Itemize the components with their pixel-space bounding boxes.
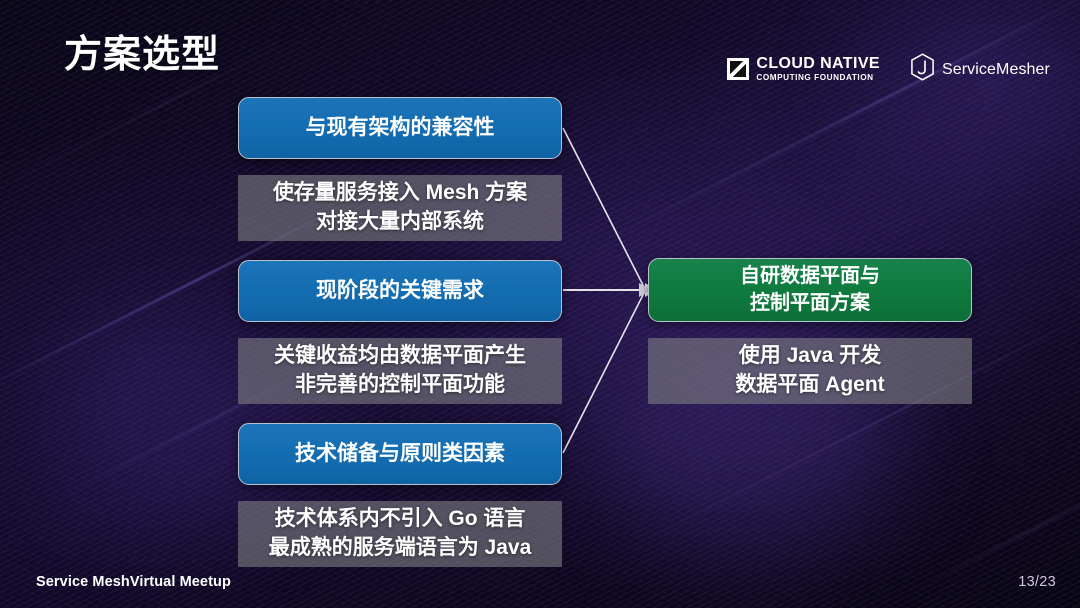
footer-brand: Service MeshVirtual Meetup: [36, 574, 231, 590]
criterion-detail-1: 使存量服务接入 Mesh 方案 对接大量内部系统: [238, 179, 562, 236]
criterion-detail-1-line1: 使存量服务接入 Mesh 方案: [273, 181, 527, 204]
criterion-box-2[interactable]: 现阶段的关键需求: [238, 260, 562, 322]
conclusion-label: 自研数据平面与 控制平面方案: [649, 263, 971, 317]
slide-canvas: 方案选型 CLOUD NATIVE COMPUTING FOUNDATION S…: [0, 0, 1080, 608]
criterion-detail-box-2: 关键收益均由数据平面产生 非完善的控制平面功能: [238, 338, 562, 404]
conclusion-box[interactable]: 自研数据平面与 控制平面方案: [648, 258, 972, 322]
conclusion-line2: 控制平面方案: [750, 292, 870, 314]
page-number: 13/23: [1018, 574, 1056, 590]
logo-group: CLOUD NATIVE COMPUTING FOUNDATION Servic…: [727, 53, 1050, 86]
conclusion-detail-line2: 数据平面 Agent: [735, 373, 884, 396]
servicemesher-hexagon-icon: [910, 53, 935, 86]
criterion-detail-3-line2: 最成熟的服务端语言为 Java: [269, 536, 532, 559]
criterion-detail-2-line1: 关键收益均由数据平面产生: [274, 344, 526, 367]
criterion-detail-3-line1: 技术体系内不引入 Go 语言: [275, 507, 526, 530]
cncf-logo-line1: CLOUD NATIVE: [756, 56, 880, 72]
background-ribbon-3: [590, 0, 1080, 250]
cncf-logo-line2: COMPUTING FOUNDATION: [756, 74, 880, 82]
criterion-box-3[interactable]: 技术储备与原则类因素: [238, 423, 562, 485]
cncf-mark-icon: [727, 58, 749, 80]
servicemesher-wordmark: ServiceMesher: [942, 61, 1050, 79]
criterion-detail-3: 技术体系内不引入 Go 语言 最成熟的服务端语言为 Java: [238, 505, 562, 562]
criterion-detail-box-3: 技术体系内不引入 Go 语言 最成熟的服务端语言为 Java: [238, 501, 562, 567]
criterion-detail-1-line2: 对接大量内部系统: [316, 210, 484, 233]
cncf-wordmark: CLOUD NATIVE COMPUTING FOUNDATION: [756, 56, 880, 82]
conclusion-detail-box: 使用 Java 开发 数据平面 Agent: [648, 338, 972, 404]
criterion-box-1[interactable]: 与现有架构的兼容性: [238, 97, 562, 159]
cncf-logo: CLOUD NATIVE COMPUTING FOUNDATION: [727, 56, 880, 82]
criterion-label-3: 技术储备与原则类因素: [239, 441, 561, 467]
background-glow-topright: [860, 10, 1080, 180]
conclusion-line1: 自研数据平面与: [740, 265, 880, 287]
criterion-label-2: 现阶段的关键需求: [239, 278, 561, 304]
criterion-detail-2-line2: 非完善的控制平面功能: [295, 373, 505, 396]
conclusion-detail: 使用 Java 开发 数据平面 Agent: [648, 342, 972, 399]
page-title: 方案选型: [64, 36, 220, 74]
conclusion-detail-line1: 使用 Java 开发: [739, 344, 881, 367]
servicemesher-logo: ServiceMesher: [910, 53, 1050, 86]
criterion-label-1: 与现有架构的兼容性: [239, 115, 561, 141]
criterion-detail-2: 关键收益均由数据平面产生 非完善的控制平面功能: [238, 342, 562, 399]
criterion-detail-box-1: 使存量服务接入 Mesh 方案 对接大量内部系统: [238, 175, 562, 241]
